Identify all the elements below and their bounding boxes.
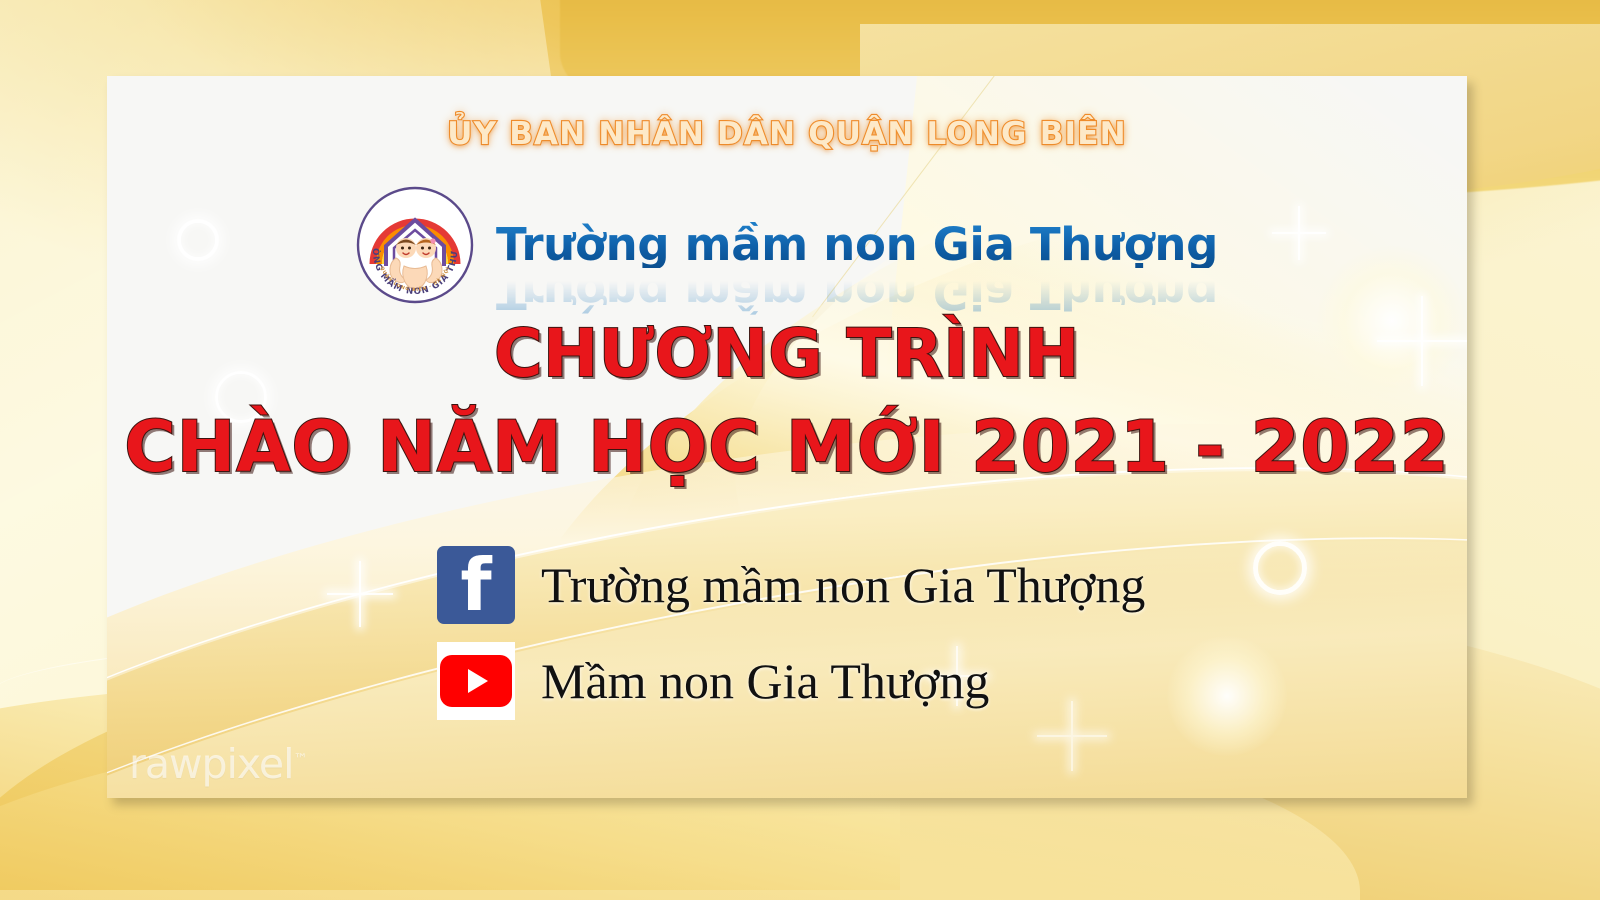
school-name: Trường mầm non Gia Thượng bbox=[496, 222, 1218, 269]
program-title: CHƯƠNG TRÌNH CHÀO NĂM HỌC MỚI 2021 - 202… bbox=[107, 308, 1467, 496]
school-logo: TRƯỜNG MẦM NON GIA THƯỢNG QUẬN LONG BIÊN… bbox=[356, 186, 474, 304]
watermark-trademark: ™ bbox=[294, 751, 307, 767]
youtube-channel-label: Mầm non Gia Thượng bbox=[541, 652, 989, 710]
banner-card: ỦY BAN NHÂN DÂN QUẬN LONG BIÊN bbox=[107, 76, 1467, 798]
facebook-icon[interactable]: f bbox=[437, 546, 515, 624]
school-name-block: Trường mầm non Gia Thượng Trường mầm non… bbox=[496, 222, 1218, 269]
social-links: f Trường mầm non Gia Thượng Mầm non Gia … bbox=[107, 546, 1467, 738]
watermark-text: rawpixel bbox=[129, 740, 294, 788]
social-row-facebook[interactable]: f Trường mầm non Gia Thượng bbox=[107, 546, 1467, 624]
social-row-youtube[interactable]: Mầm non Gia Thượng bbox=[107, 642, 1467, 720]
youtube-icon[interactable] bbox=[437, 642, 515, 720]
program-title-line-1: CHƯƠNG TRÌNH bbox=[107, 308, 1467, 399]
banner-slide: ỦY BAN NHÂN DÂN QUẬN LONG BIÊN bbox=[0, 0, 1600, 900]
rawpixel-watermark: rawpixel™ bbox=[129, 740, 307, 788]
facebook-page-label: Trường mầm non Gia Thượng bbox=[541, 556, 1145, 614]
brand-row: TRƯỜNG MẦM NON GIA THƯỢNG QUẬN LONG BIÊN… bbox=[107, 186, 1467, 304]
card-content: ỦY BAN NHÂN DÂN QUẬN LONG BIÊN bbox=[107, 76, 1467, 798]
program-title-line-2: CHÀO NĂM HỌC MỚI 2021 - 2022 bbox=[107, 399, 1467, 496]
authority-header: ỦY BAN NHÂN DÂN QUẬN LONG BIÊN bbox=[107, 116, 1467, 152]
